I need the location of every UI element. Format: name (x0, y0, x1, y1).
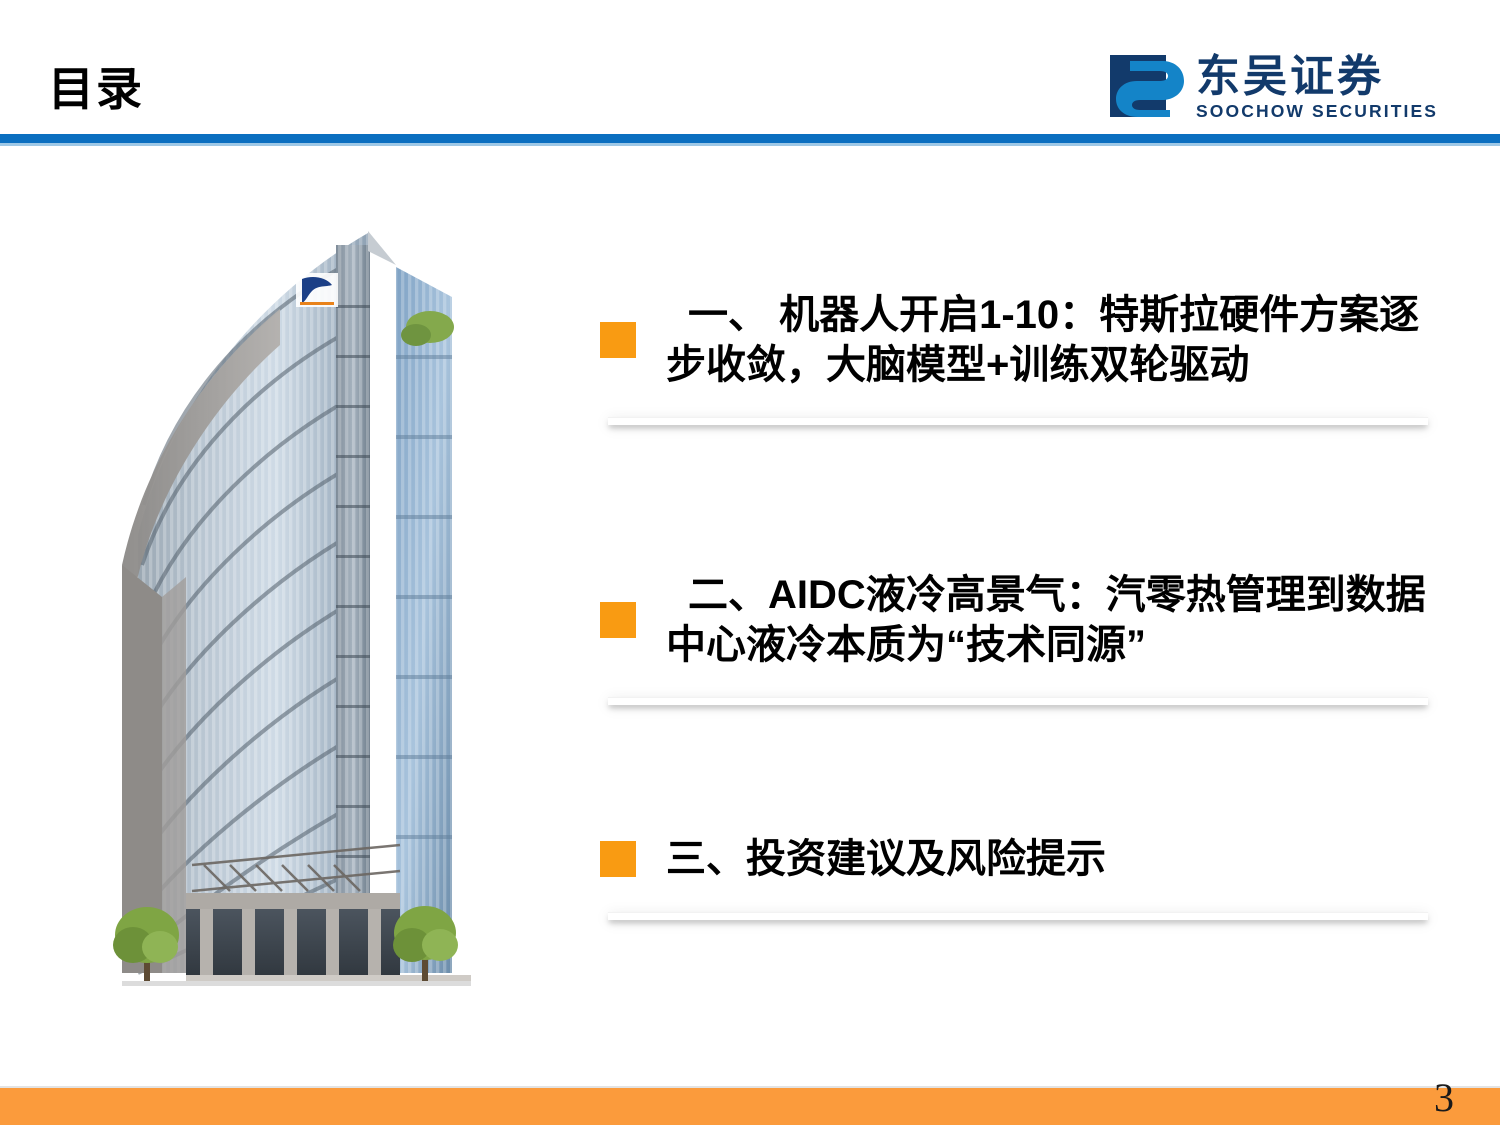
brand-wordmark: 东吴证券 SOOCHOW SECURITIES (1196, 55, 1438, 122)
brand-logo: 东吴证券 SOOCHOW SECURITIES (1110, 50, 1438, 126)
toc-item-label-1: 一、 机器人开启1-10：特斯拉硬件方案逐步收敛，大脑模型+训练双轮驱动 (666, 290, 1430, 391)
slide-header: 目录 东吴证券 SOOCHOW SECURITIES (0, 0, 1500, 136)
soochow-s-mark-icon (1110, 53, 1184, 123)
toc-row-3: 三、投资建议及风险提示 (600, 832, 1430, 886)
toc-divider-2 (608, 697, 1428, 705)
toc-row-2: 二、AIDC液冷高景气：汽零热管理到数据中心液冷本质为“技术同源” (600, 570, 1430, 671)
toc-entry-3[interactable]: 三、投资建议及风险提示 (600, 832, 1430, 920)
toc-entry-1[interactable]: 一、 机器人开启1-10：特斯拉硬件方案逐步收敛，大脑模型+训练双轮驱动 (600, 290, 1430, 425)
toc-item-label-3: 三、投资建议及风险提示 (666, 834, 1430, 884)
footer-bar (0, 1088, 1500, 1125)
brand-name-en: SOOCHOW SECURITIES (1196, 101, 1438, 121)
header-rule-secondary (0, 143, 1500, 146)
table-of-contents: 一、 机器人开启1-10：特斯拉硬件方案逐步收敛，大脑模型+训练双轮驱动 二、A… (600, 180, 1430, 970)
orange-square-bullet-icon (600, 602, 636, 638)
toc-entry-2[interactable]: 二、AIDC液冷高景气：汽零热管理到数据中心液冷本质为“技术同源” (600, 570, 1430, 705)
toc-row-1: 一、 机器人开启1-10：特斯拉硬件方案逐步收敛，大脑模型+训练双轮驱动 (600, 290, 1430, 391)
brand-name-cn: 东吴证券 (1196, 55, 1438, 100)
headquarters-building-image (100, 205, 485, 1010)
orange-square-bullet-icon (600, 322, 636, 358)
orange-square-bullet-icon (600, 841, 636, 877)
building-graphic (100, 205, 485, 1010)
toc-divider-1 (608, 417, 1428, 425)
page-title: 目录 (48, 66, 144, 112)
header-rule (0, 134, 1500, 143)
toc-divider-3 (608, 912, 1428, 920)
building-crest-icon (296, 273, 338, 307)
page-number: 3 (1434, 1078, 1454, 1118)
slide-root: 目录 东吴证券 SOOCHOW SECURITIES (0, 0, 1500, 1125)
toc-item-label-2: 二、AIDC液冷高景气：汽零热管理到数据中心液冷本质为“技术同源” (666, 570, 1430, 671)
